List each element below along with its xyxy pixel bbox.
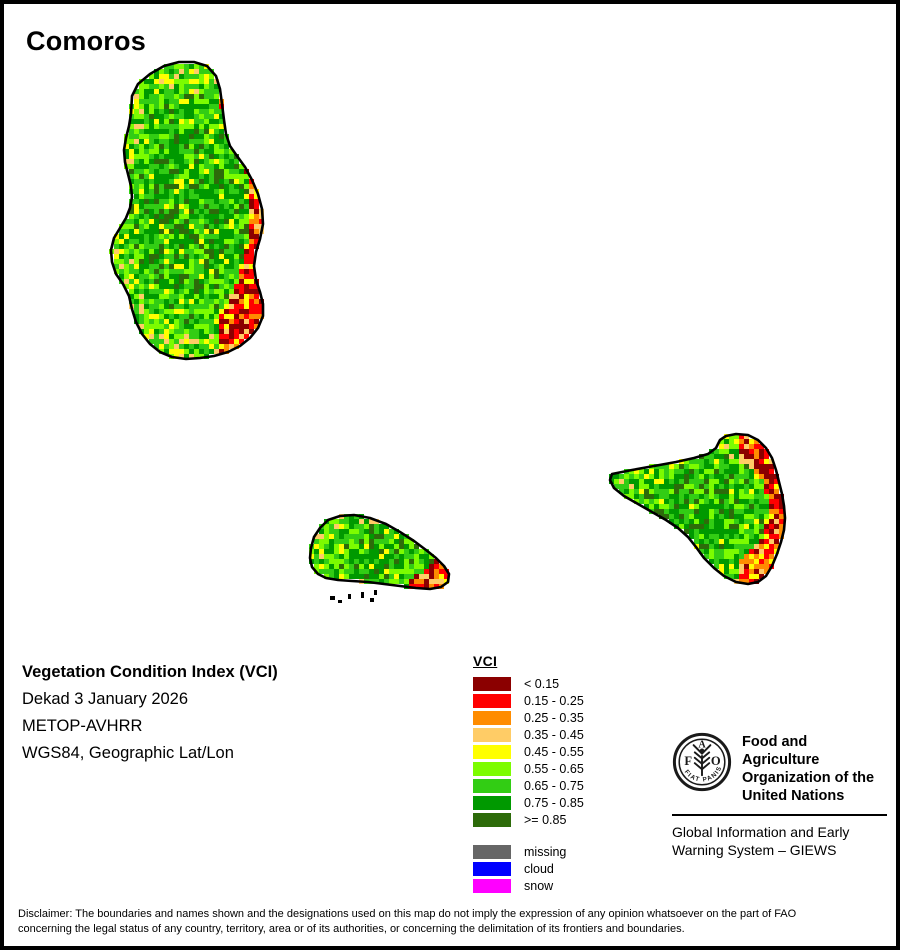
vci-cell bbox=[404, 544, 409, 549]
vci-cell bbox=[724, 564, 729, 569]
vci-cell bbox=[749, 524, 754, 529]
vci-cell bbox=[154, 274, 159, 279]
vci-cell bbox=[139, 149, 144, 154]
vci-cell bbox=[334, 559, 339, 564]
vci-cell bbox=[389, 564, 394, 569]
vci-cell bbox=[204, 329, 209, 334]
vci-cell bbox=[714, 519, 719, 524]
vci-cell bbox=[354, 539, 359, 544]
vci-cell bbox=[149, 294, 154, 299]
vci-cell bbox=[219, 249, 224, 254]
vci-cell bbox=[154, 169, 159, 174]
vci-cell bbox=[214, 229, 219, 234]
vci-cell bbox=[629, 489, 634, 494]
vci-cell bbox=[769, 524, 774, 529]
vci-cell bbox=[199, 94, 204, 99]
vci-cell bbox=[149, 254, 154, 259]
vci-cell bbox=[184, 119, 189, 124]
vci-cell bbox=[734, 539, 739, 544]
vci-cell bbox=[734, 484, 739, 489]
vci-cell bbox=[684, 479, 689, 484]
vci-cell bbox=[209, 84, 214, 89]
vci-cell bbox=[194, 294, 199, 299]
vci-cell bbox=[214, 139, 219, 144]
vci-cell bbox=[134, 159, 139, 164]
vci-cell bbox=[244, 254, 249, 259]
vci-cell bbox=[139, 144, 144, 149]
vci-cell bbox=[699, 489, 704, 494]
vci-cell bbox=[739, 539, 744, 544]
vci-cell bbox=[144, 244, 149, 249]
vci-cell bbox=[174, 74, 179, 79]
vci-cell bbox=[169, 214, 174, 219]
vci-cell bbox=[249, 229, 254, 234]
vci-cell bbox=[224, 194, 229, 199]
vci-cell bbox=[209, 179, 214, 184]
disclaimer-text: Disclaimer: The boundaries and names sho… bbox=[18, 907, 818, 937]
vci-cell bbox=[174, 169, 179, 174]
vci-cell bbox=[199, 79, 204, 84]
vci-cell bbox=[254, 219, 259, 224]
vci-cell bbox=[164, 289, 169, 294]
vci-cell bbox=[239, 249, 244, 254]
vci-cell bbox=[164, 294, 169, 299]
vci-cell bbox=[714, 544, 719, 549]
vci-cell bbox=[184, 164, 189, 169]
fao-logo-letter-a: A bbox=[698, 740, 706, 751]
vci-cell bbox=[714, 454, 719, 459]
vci-cell bbox=[224, 189, 229, 194]
vci-cell bbox=[239, 259, 244, 264]
vci-cell bbox=[119, 244, 124, 249]
vci-cell bbox=[729, 514, 734, 519]
vci-cell bbox=[714, 494, 719, 499]
vci-cell bbox=[249, 249, 254, 254]
vci-cell bbox=[204, 309, 209, 314]
vci-cell bbox=[694, 539, 699, 544]
vci-cell bbox=[134, 104, 139, 109]
vci-cell bbox=[159, 289, 164, 294]
vci-cell bbox=[714, 539, 719, 544]
vci-cell bbox=[134, 274, 139, 279]
vci-cell bbox=[704, 484, 709, 489]
vci-cell bbox=[664, 504, 669, 509]
vci-cell bbox=[669, 484, 674, 489]
vci-cell bbox=[164, 164, 169, 169]
vci-cell bbox=[179, 274, 184, 279]
vci-cell bbox=[659, 499, 664, 504]
vci-cell bbox=[209, 299, 214, 304]
vci-cell bbox=[734, 444, 739, 449]
legend-class-8: >= 0.85 bbox=[473, 811, 584, 828]
vci-cell bbox=[219, 339, 224, 344]
vci-cell bbox=[724, 534, 729, 539]
vci-cell bbox=[199, 259, 204, 264]
vci-cell bbox=[159, 139, 164, 144]
vci-cell bbox=[659, 474, 664, 479]
vci-cell bbox=[139, 274, 144, 279]
vci-cell bbox=[234, 284, 239, 289]
vci-cell bbox=[174, 89, 179, 94]
vci-cell bbox=[399, 564, 404, 569]
vci-cell bbox=[164, 264, 169, 269]
vci-cell bbox=[209, 254, 214, 259]
vci-cell bbox=[129, 224, 134, 229]
vci-cell bbox=[679, 489, 684, 494]
vci-cell bbox=[754, 529, 759, 534]
vci-cell bbox=[379, 534, 384, 539]
vci-cell bbox=[219, 144, 224, 149]
islet-mark-2 bbox=[348, 594, 351, 599]
vci-cell bbox=[744, 474, 749, 479]
vci-cell bbox=[164, 209, 169, 214]
vci-cell bbox=[184, 124, 189, 129]
vci-cell bbox=[639, 474, 644, 479]
vci-cell bbox=[339, 529, 344, 534]
vci-cell bbox=[169, 284, 174, 289]
vci-cell bbox=[749, 494, 754, 499]
vci-cell bbox=[189, 99, 194, 104]
vci-cell bbox=[179, 129, 184, 134]
vci-cell bbox=[189, 199, 194, 204]
vci-cell bbox=[154, 279, 159, 284]
vci-cell bbox=[154, 89, 159, 94]
vci-cell bbox=[164, 94, 169, 99]
vci-cell bbox=[129, 244, 134, 249]
vci-cell bbox=[219, 214, 224, 219]
vci-cell bbox=[204, 249, 209, 254]
vci-cell bbox=[674, 499, 679, 504]
vci-cell bbox=[754, 504, 759, 509]
vci-cell bbox=[214, 249, 219, 254]
vci-cell bbox=[219, 164, 224, 169]
vci-cell bbox=[229, 179, 234, 184]
vci-cell bbox=[234, 319, 239, 324]
vci-cell bbox=[749, 439, 754, 444]
vci-cell bbox=[699, 524, 704, 529]
vci-cell bbox=[204, 79, 209, 84]
vci-cell bbox=[194, 344, 199, 349]
vci-cell bbox=[774, 489, 779, 494]
vci-cell bbox=[674, 489, 679, 494]
vci-cell bbox=[739, 439, 744, 444]
legend-class-label: 0.35 - 0.45 bbox=[524, 728, 584, 742]
vci-cell bbox=[384, 539, 389, 544]
vci-cell bbox=[199, 224, 204, 229]
vci-cell bbox=[179, 289, 184, 294]
fao-logo-icon: F A O FIAT PANIS bbox=[672, 732, 732, 792]
vci-cell bbox=[689, 499, 694, 504]
vci-cell bbox=[174, 159, 179, 164]
vci-cell bbox=[764, 559, 769, 564]
vci-cell bbox=[744, 534, 749, 539]
vci-cell bbox=[229, 324, 234, 329]
vci-cell bbox=[209, 194, 214, 199]
vci-cell bbox=[234, 164, 239, 169]
vci-cell bbox=[199, 334, 204, 339]
vci-cell bbox=[739, 514, 744, 519]
vci-cell bbox=[634, 494, 639, 499]
vci-cell bbox=[184, 69, 189, 74]
vci-cell bbox=[209, 244, 214, 249]
vci-cell bbox=[764, 524, 769, 529]
vci-cell bbox=[734, 559, 739, 564]
vci-cell bbox=[709, 494, 714, 499]
legend-class-3: 0.35 - 0.45 bbox=[473, 726, 584, 743]
vci-cell bbox=[329, 534, 334, 539]
vci-cell bbox=[154, 259, 159, 264]
vci-cell bbox=[229, 269, 234, 274]
vci-cell bbox=[739, 549, 744, 554]
vci-cell bbox=[189, 269, 194, 274]
vci-cell bbox=[669, 499, 674, 504]
vci-cell bbox=[704, 519, 709, 524]
vci-cell bbox=[244, 214, 249, 219]
vci-cell bbox=[219, 209, 224, 214]
vci-cell bbox=[214, 264, 219, 269]
vci-cell bbox=[194, 244, 199, 249]
vci-cell bbox=[189, 124, 194, 129]
vci-cell bbox=[754, 539, 759, 544]
vci-cell bbox=[379, 569, 384, 574]
vci-cell bbox=[169, 204, 174, 209]
vci-cell bbox=[209, 249, 214, 254]
vci-cell bbox=[164, 144, 169, 149]
vci-cell bbox=[159, 339, 164, 344]
vci-cell bbox=[764, 464, 769, 469]
vci-cell bbox=[134, 119, 139, 124]
vci-cell bbox=[159, 264, 164, 269]
vci-cell bbox=[169, 179, 174, 184]
vci-cell bbox=[144, 269, 149, 274]
vci-cell bbox=[189, 324, 194, 329]
vci-cell bbox=[179, 234, 184, 239]
vci-cell bbox=[144, 179, 149, 184]
vci-cell bbox=[164, 114, 169, 119]
vci-cell bbox=[159, 109, 164, 114]
vci-cell bbox=[699, 529, 704, 534]
vci-cell bbox=[139, 109, 144, 114]
vci-cell bbox=[209, 234, 214, 239]
vci-cell bbox=[344, 549, 349, 554]
vci-cell bbox=[254, 224, 259, 229]
vci-cell bbox=[134, 169, 139, 174]
vci-cell bbox=[224, 284, 229, 289]
vci-cell bbox=[144, 109, 149, 114]
vci-cell bbox=[139, 214, 144, 219]
vci-cell bbox=[374, 534, 379, 539]
vci-cell bbox=[149, 324, 154, 329]
vci-cell bbox=[209, 219, 214, 224]
vci-cell bbox=[739, 484, 744, 489]
vci-cell bbox=[194, 189, 199, 194]
vci-cell bbox=[159, 204, 164, 209]
vci-cell bbox=[174, 234, 179, 239]
vci-cell bbox=[319, 539, 324, 544]
vci-cell bbox=[164, 344, 169, 349]
vci-cell bbox=[199, 134, 204, 139]
vci-cell bbox=[209, 264, 214, 269]
vci-cell bbox=[759, 509, 764, 514]
vci-cell bbox=[149, 119, 154, 124]
vci-cell bbox=[344, 554, 349, 559]
vci-cell bbox=[719, 464, 724, 469]
vci-cell bbox=[769, 494, 774, 499]
vci-cell bbox=[734, 509, 739, 514]
vci-cell bbox=[714, 559, 719, 564]
vci-cell bbox=[179, 134, 184, 139]
vci-cell bbox=[409, 549, 414, 554]
vci-cell bbox=[219, 234, 224, 239]
vci-cell bbox=[184, 129, 189, 134]
vci-cell bbox=[149, 329, 154, 334]
vci-cell bbox=[374, 554, 379, 559]
vci-cell bbox=[239, 169, 244, 174]
vci-cell bbox=[199, 314, 204, 319]
vci-cell bbox=[209, 289, 214, 294]
vci-cell bbox=[669, 469, 674, 474]
vci-cell bbox=[174, 229, 179, 234]
vci-cell bbox=[229, 159, 234, 164]
vci-cell bbox=[224, 224, 229, 229]
vci-cell bbox=[759, 554, 764, 559]
vci-cell bbox=[384, 544, 389, 549]
vci-cell bbox=[209, 129, 214, 134]
vci-cell bbox=[249, 244, 254, 249]
vci-cell bbox=[734, 474, 739, 479]
vci-cell bbox=[179, 334, 184, 339]
vci-cell bbox=[159, 324, 164, 329]
vci-cell bbox=[114, 244, 119, 249]
vci-cell bbox=[159, 319, 164, 324]
vci-cell bbox=[349, 544, 354, 549]
vci-cell bbox=[194, 174, 199, 179]
vci-cell bbox=[254, 314, 259, 319]
vci-cell bbox=[664, 484, 669, 489]
vci-cell bbox=[354, 524, 359, 529]
vci-cell bbox=[389, 554, 394, 559]
vci-cell bbox=[154, 299, 159, 304]
vci-cell bbox=[204, 209, 209, 214]
vci-cell bbox=[744, 529, 749, 534]
vci-cell bbox=[144, 89, 149, 94]
vci-cell bbox=[714, 534, 719, 539]
vci-cell bbox=[634, 474, 639, 479]
vci-cell bbox=[164, 104, 169, 109]
vci-cell bbox=[229, 199, 234, 204]
vci-cell bbox=[334, 534, 339, 539]
vci-cell bbox=[749, 529, 754, 534]
vci-cell bbox=[144, 169, 149, 174]
vci-cell bbox=[704, 514, 709, 519]
vci-cell bbox=[224, 319, 229, 324]
vci-cell bbox=[619, 479, 624, 484]
vci-cell bbox=[244, 229, 249, 234]
vci-cell bbox=[189, 234, 194, 239]
vci-cell bbox=[184, 264, 189, 269]
vci-cell bbox=[234, 329, 239, 334]
vci-cell bbox=[154, 74, 159, 79]
vci-cell bbox=[244, 274, 249, 279]
vci-cell bbox=[214, 259, 219, 264]
vci-cell bbox=[149, 289, 154, 294]
vci-cell bbox=[684, 464, 689, 469]
vci-cell bbox=[159, 329, 164, 334]
vci-cell bbox=[684, 494, 689, 499]
vci-cell bbox=[749, 549, 754, 554]
vci-cell bbox=[149, 314, 154, 319]
vci-cell bbox=[179, 324, 184, 329]
vci-cell bbox=[184, 284, 189, 289]
vci-cell bbox=[699, 504, 704, 509]
vci-cell bbox=[154, 224, 159, 229]
vci-cell bbox=[149, 174, 154, 179]
vci-cell bbox=[744, 439, 749, 444]
vci-cell bbox=[684, 519, 689, 524]
vci-cell bbox=[199, 344, 204, 349]
vci-cell bbox=[129, 139, 134, 144]
map-info-block: Vegetation Condition Index (VCI) Dekad 3… bbox=[22, 659, 278, 767]
vci-cell bbox=[224, 219, 229, 224]
vci-cell bbox=[764, 504, 769, 509]
info-sensor: METOP-AVHRR bbox=[22, 713, 278, 740]
vci-cell bbox=[169, 144, 174, 149]
vci-cell bbox=[744, 524, 749, 529]
legend-special-1: cloud bbox=[473, 860, 584, 877]
vci-cell bbox=[699, 509, 704, 514]
vci-cell bbox=[724, 459, 729, 464]
vci-cell bbox=[764, 469, 769, 474]
vci-cell bbox=[159, 159, 164, 164]
vci-cell bbox=[169, 109, 174, 114]
vci-cell bbox=[159, 99, 164, 104]
vci-cell bbox=[169, 209, 174, 214]
vci-cell bbox=[134, 94, 139, 99]
vci-cell bbox=[249, 204, 254, 209]
vci-cell bbox=[379, 574, 384, 579]
vci-cell bbox=[764, 484, 769, 489]
vci-cell bbox=[194, 159, 199, 164]
vci-cell bbox=[159, 189, 164, 194]
vci-cell bbox=[144, 84, 149, 89]
legend-special-label: cloud bbox=[524, 862, 554, 876]
vci-cell bbox=[159, 124, 164, 129]
vci-cell bbox=[154, 154, 159, 159]
vci-cell bbox=[759, 484, 764, 489]
vci-cell bbox=[244, 244, 249, 249]
vci-cell bbox=[729, 549, 734, 554]
vci-cell bbox=[199, 169, 204, 174]
vci-cell bbox=[324, 539, 329, 544]
vci-cell bbox=[189, 164, 194, 169]
vci-cell bbox=[219, 229, 224, 234]
vci-cell bbox=[384, 569, 389, 574]
vci-cell bbox=[229, 304, 234, 309]
vci-cell bbox=[134, 309, 139, 314]
vci-cell bbox=[704, 544, 709, 549]
vci-cell bbox=[174, 349, 179, 354]
vci-cell bbox=[139, 269, 144, 274]
vci-cell bbox=[184, 289, 189, 294]
vci-cell bbox=[249, 194, 254, 199]
vci-cell bbox=[214, 324, 219, 329]
vci-cell bbox=[324, 549, 329, 554]
vci-cell bbox=[149, 269, 154, 274]
vci-cell bbox=[199, 99, 204, 104]
vci-cell bbox=[729, 449, 734, 454]
vci-cell bbox=[194, 74, 199, 79]
vci-cell bbox=[189, 114, 194, 119]
